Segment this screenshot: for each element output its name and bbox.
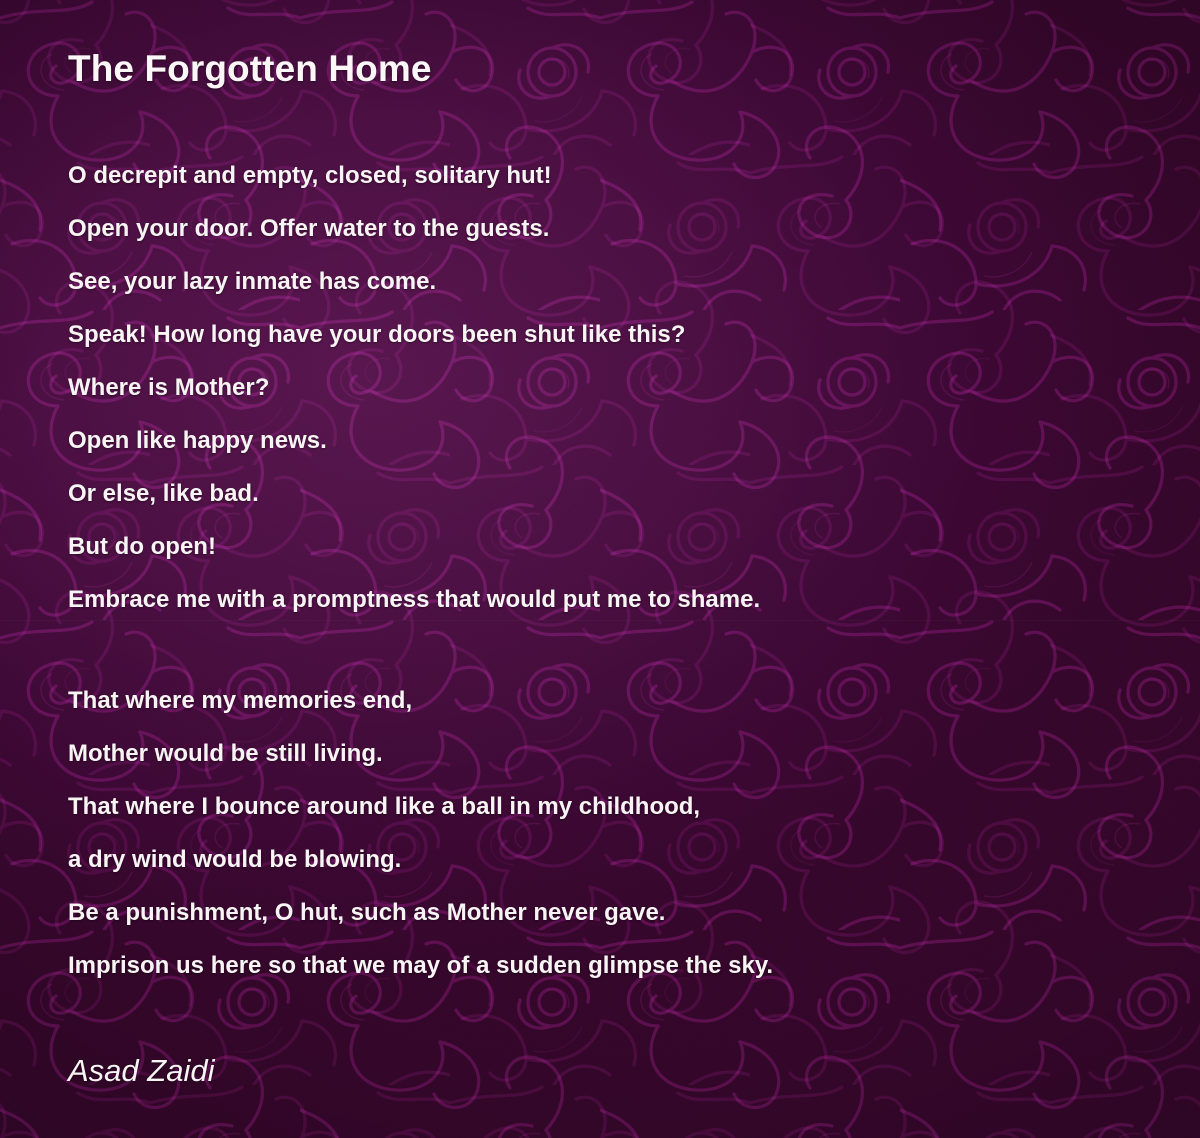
poem-body: O decrepit and empty, closed, solitary h…	[68, 149, 1140, 992]
poem-line: Open your door. Offer water to the guest…	[68, 202, 1140, 255]
poem-stanza: O decrepit and empty, closed, solitary h…	[68, 149, 1140, 626]
poem-line: Be a punishment, O hut, such as Mother n…	[68, 886, 1140, 939]
poem-line: Imprison us here so that we may of a sud…	[68, 939, 1140, 992]
poem-line: That where my memories end,	[68, 674, 1140, 727]
poem-line: Speak! How long have your doors been shu…	[68, 308, 1140, 361]
poem-author: Asad Zaidi	[68, 1054, 1140, 1088]
poem-stanza: That where my memories end, Mother would…	[68, 674, 1140, 992]
poem-line: See, your lazy inmate has come.	[68, 255, 1140, 308]
poem-title: The Forgotten Home	[68, 48, 1140, 91]
poem-content: The Forgotten Home O decrepit and empty,…	[0, 0, 1200, 1088]
poem-line: Embrace me with a promptness that would …	[68, 573, 1140, 626]
poem-line: Or else, like bad.	[68, 467, 1140, 520]
poem-page: The Forgotten Home O decrepit and empty,…	[0, 0, 1200, 1138]
poem-line: Where is Mother?	[68, 361, 1140, 414]
poem-line: That where I bounce around like a ball i…	[68, 780, 1140, 833]
poem-line: Mother would be still living.	[68, 727, 1140, 780]
poem-line: But do open!	[68, 520, 1140, 573]
poem-line: a dry wind would be blowing.	[68, 833, 1140, 886]
poem-line: Open like happy news.	[68, 414, 1140, 467]
poem-line: O decrepit and empty, closed, solitary h…	[68, 149, 1140, 202]
